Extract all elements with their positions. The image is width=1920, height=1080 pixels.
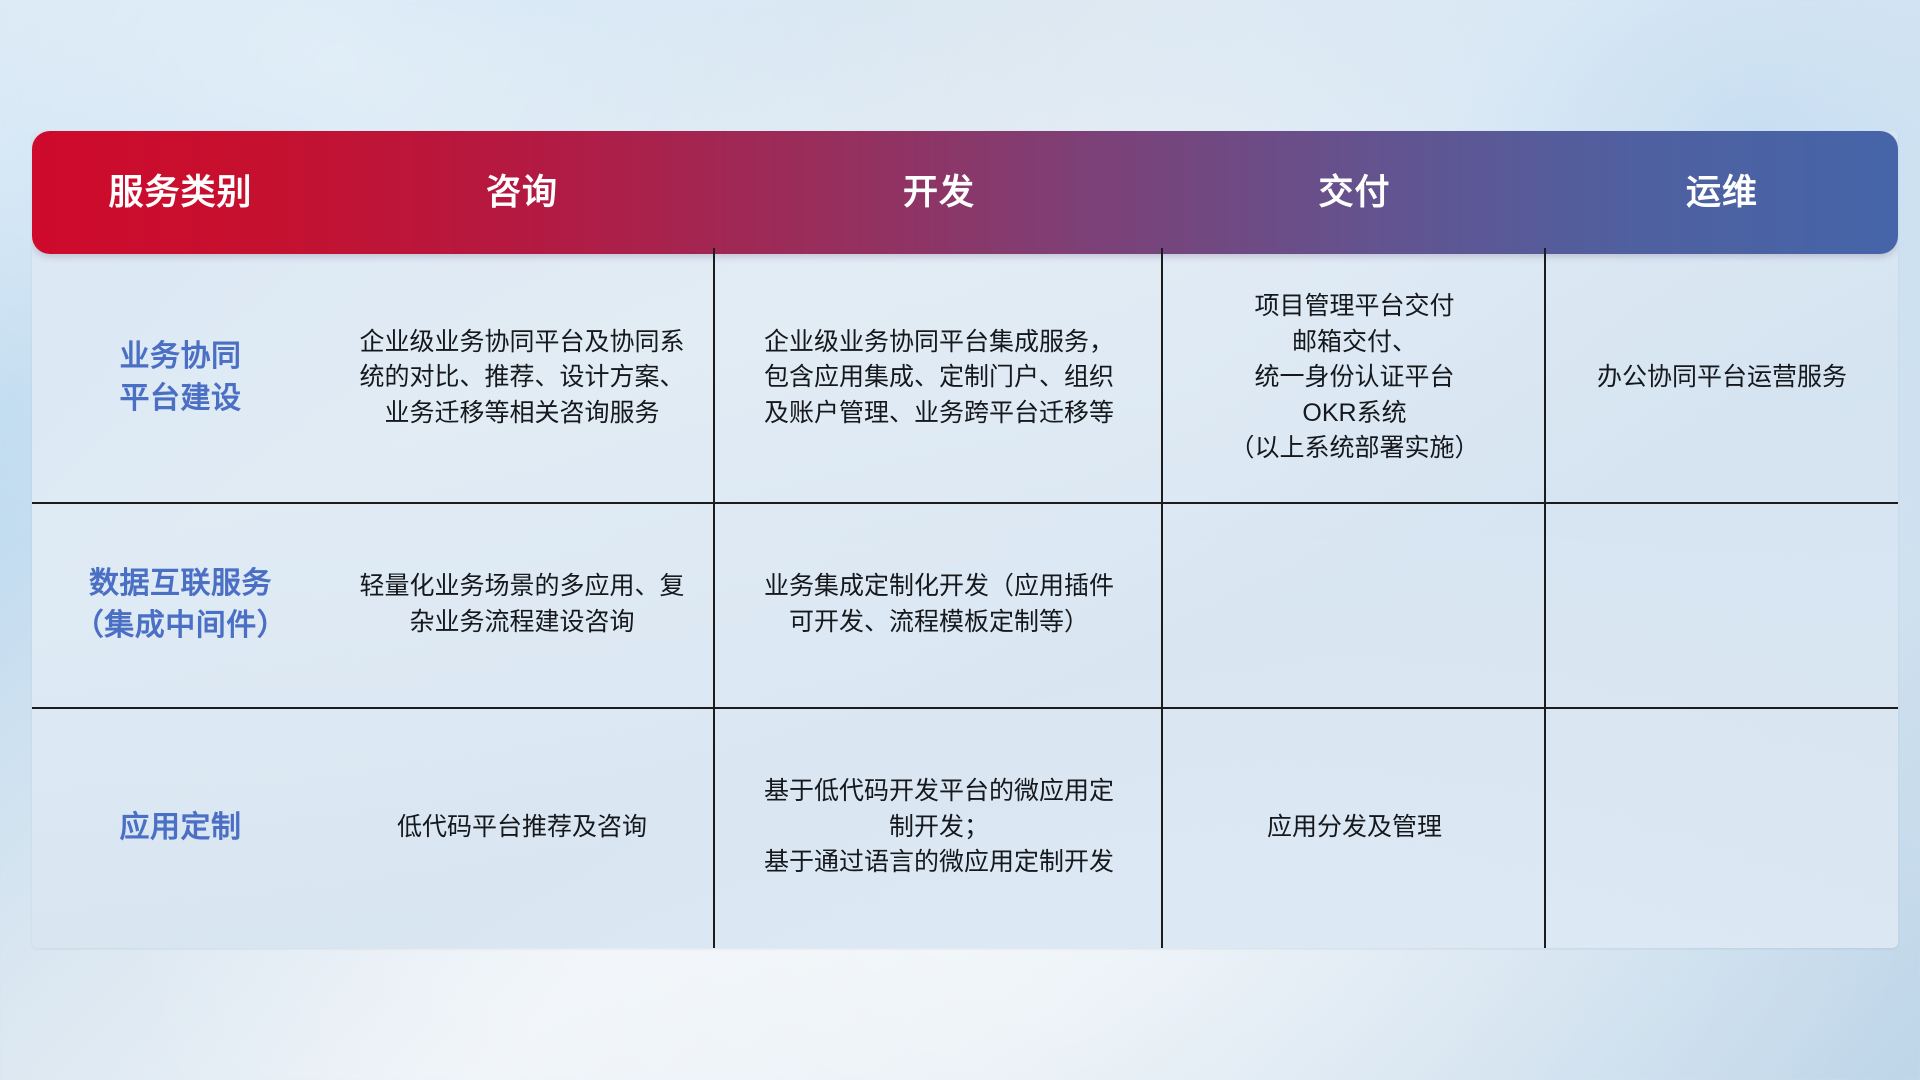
cell-delivery	[1163, 502, 1546, 707]
table-row: 业务协同 平台建设 企业级业务协同平台及协同系 统的对比、推荐、设计方案、 业务…	[32, 254, 1898, 502]
column-header-development: 开发	[715, 175, 1163, 210]
cell-delivery: 应用分发及管理	[1163, 707, 1546, 948]
table-row: 数据互联服务 （集成中间件） 轻量化业务场景的多应用、复 杂业务流程建设咨询 业…	[32, 502, 1898, 707]
cell-delivery: 项目管理平台交付 邮箱交付、 统一身份认证平台 OKR系统 （以上系统部署实施）	[1163, 254, 1546, 502]
category-label: 业务协同 平台建设	[120, 336, 242, 420]
cell-operations	[1546, 707, 1898, 948]
cell-value: 业务集成定制化开发（应用插件 可开发、流程模板定制等）	[764, 569, 1114, 640]
cell-value: 企业级业务协同平台及协同系 统的对比、推荐、设计方案、 业务迁移等相关咨询服务	[359, 325, 684, 432]
service-matrix-table: 服务类别 咨询 开发 交付 运维 业务协同 平台建设 企业级业务协同平台及协同系…	[32, 131, 1898, 948]
cell-consulting: 低代码平台推荐及咨询	[329, 707, 715, 948]
table-body: 业务协同 平台建设 企业级业务协同平台及协同系 统的对比、推荐、设计方案、 业务…	[32, 254, 1898, 948]
table-panel: 服务类别 咨询 开发 交付 运维 业务协同 平台建设 企业级业务协同平台及协同系…	[32, 131, 1898, 948]
column-header-delivery: 交付	[1163, 175, 1546, 210]
cell-development: 业务集成定制化开发（应用插件 可开发、流程模板定制等）	[715, 502, 1163, 707]
cell-development: 企业级业务协同平台集成服务， 包含应用集成、定制门户、组织 及账户管理、业务跨平…	[715, 254, 1163, 502]
cell-value: 应用分发及管理	[1267, 810, 1442, 846]
column-header-consulting: 咨询	[329, 175, 715, 210]
cell-value: 企业级业务协同平台集成服务， 包含应用集成、定制门户、组织 及账户管理、业务跨平…	[764, 325, 1114, 432]
cell-value: 项目管理平台交付 邮箱交付、 统一身份认证平台 OKR系统 （以上系统部署实施）	[1229, 289, 1479, 467]
cell-consulting: 企业级业务协同平台及协同系 统的对比、推荐、设计方案、 业务迁移等相关咨询服务	[329, 254, 715, 502]
column-header-operations: 运维	[1546, 175, 1898, 210]
table-row: 应用定制 低代码平台推荐及咨询 基于低代码开发平台的微应用定 制开发； 基于通过…	[32, 707, 1898, 948]
cell-value: 办公协同平台运营服务	[1597, 360, 1847, 396]
cell-development: 基于低代码开发平台的微应用定 制开发； 基于通过语言的微应用定制开发	[715, 707, 1163, 948]
cell-consulting: 轻量化业务场景的多应用、复 杂业务流程建设咨询	[329, 502, 715, 707]
cell-value: 基于低代码开发平台的微应用定 制开发； 基于通过语言的微应用定制开发	[764, 774, 1114, 881]
category-label: 应用定制	[120, 807, 242, 849]
cell-operations	[1546, 502, 1898, 707]
cell-operations: 办公协同平台运营服务	[1546, 254, 1898, 502]
table-header-row: 服务类别 咨询 开发 交付 运维	[32, 131, 1898, 254]
cell-category: 数据互联服务 （集成中间件）	[32, 502, 329, 707]
category-label: 数据互联服务 （集成中间件）	[74, 563, 288, 647]
cell-category: 应用定制	[32, 707, 329, 948]
slide-stage: 服务类别 咨询 开发 交付 运维 业务协同 平台建设 企业级业务协同平台及协同系…	[0, 0, 1920, 1080]
column-header-category: 服务类别	[32, 175, 329, 210]
cell-value: 轻量化业务场景的多应用、复 杂业务流程建设咨询	[359, 569, 684, 640]
cell-value: 低代码平台推荐及咨询	[397, 810, 647, 846]
cell-category: 业务协同 平台建设	[32, 254, 329, 502]
